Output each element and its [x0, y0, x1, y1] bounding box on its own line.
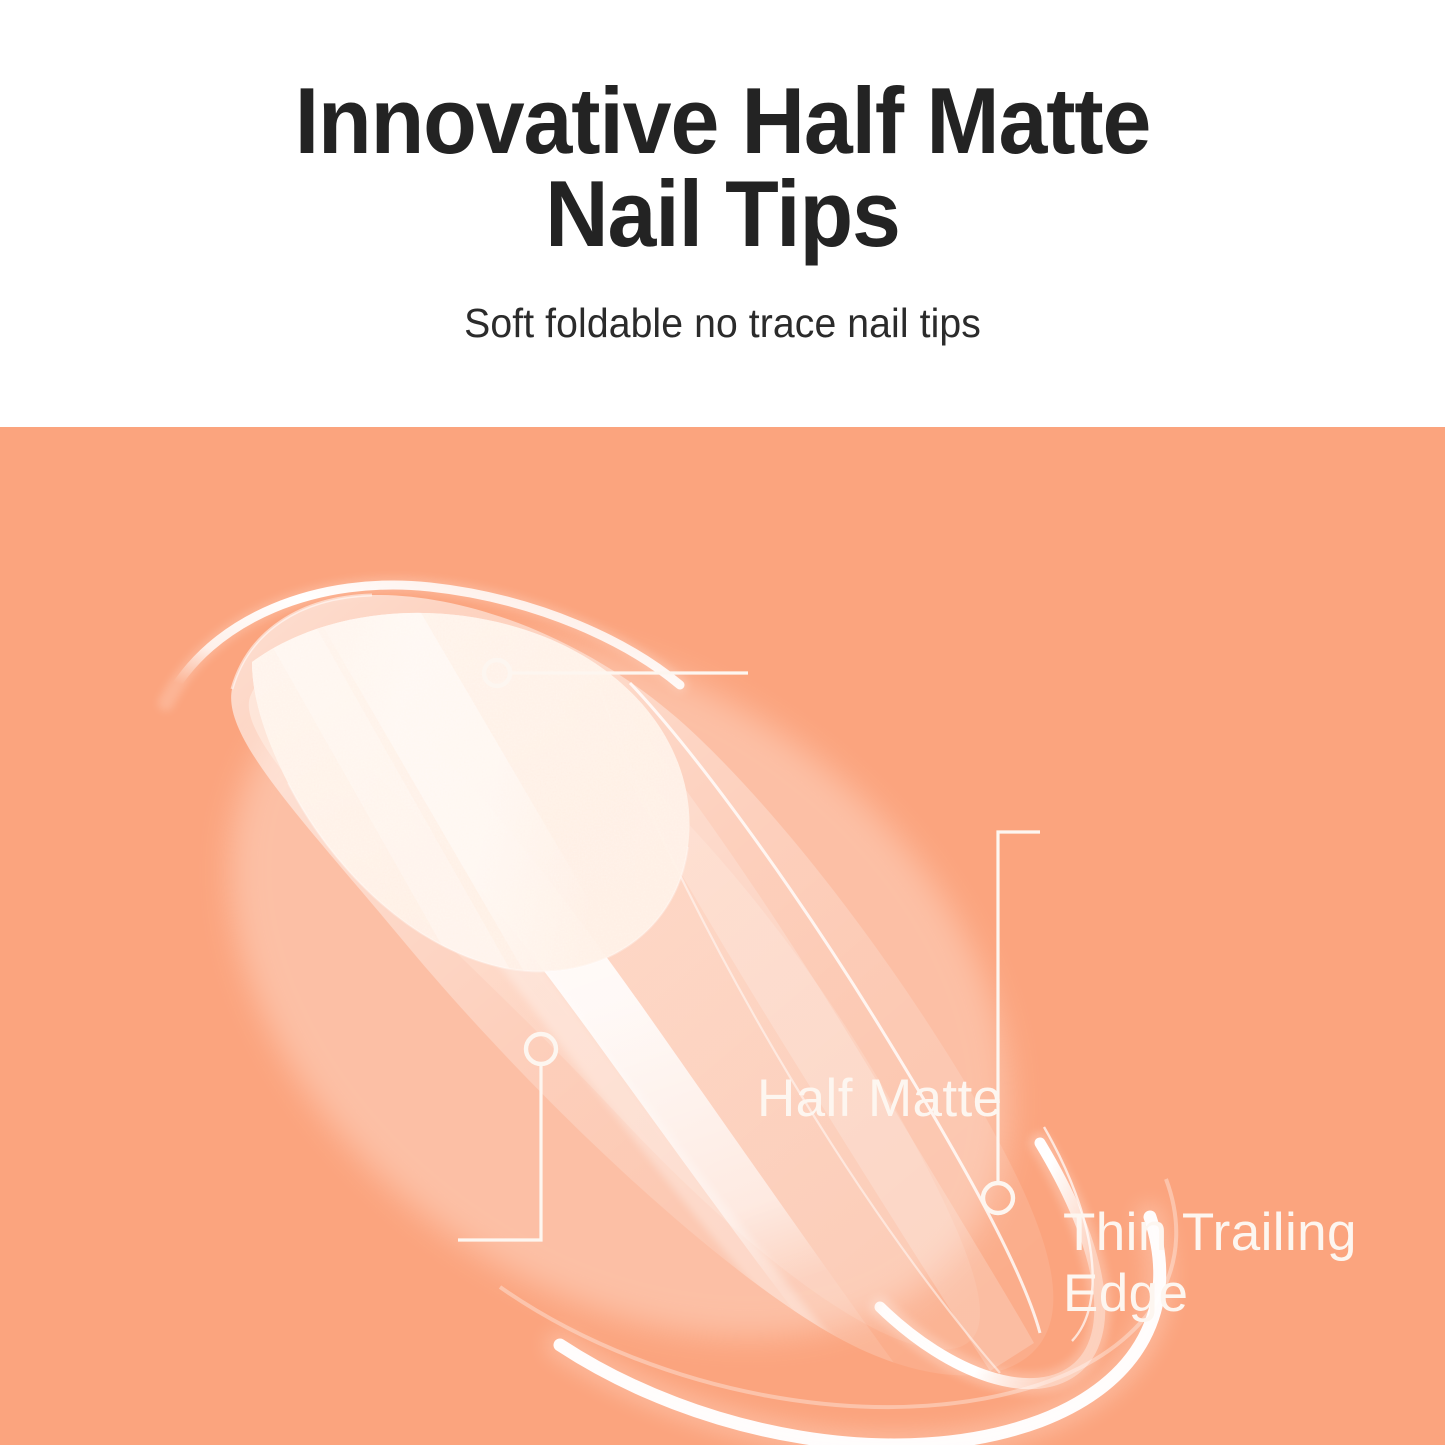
- page-title: Innovative Half Matte Nail Tips: [295, 74, 1151, 260]
- header-section: Innovative Half Matte Nail Tips Soft fol…: [0, 0, 1445, 427]
- callout-label-thin-trailing-edge: Thin Trailing Edge: [1063, 1202, 1357, 1325]
- product-infographic: Innovative Half Matte Nail Tips Soft fol…: [0, 0, 1445, 1445]
- callout-label-half-matte: Half Matte: [757, 1068, 1003, 1129]
- product-showcase-panel: Half Matte Thin Trailing Edge No Crease: [0, 427, 1445, 1445]
- page-subtitle: Soft foldable no trace nail tips: [464, 300, 981, 347]
